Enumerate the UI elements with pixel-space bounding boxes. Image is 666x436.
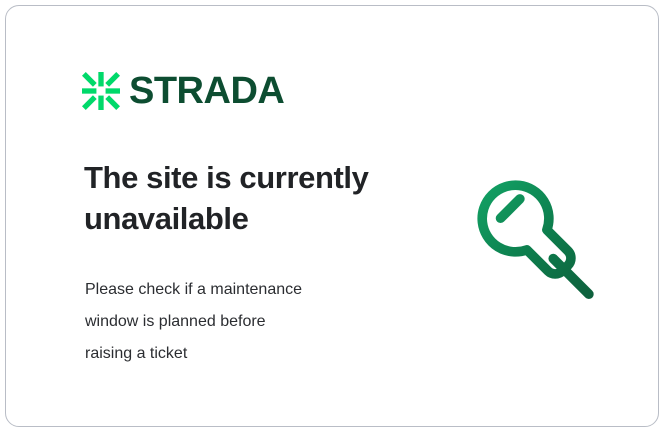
brand-lockup: STRADA (82, 72, 284, 110)
brand-wordmark: STRADA (129, 72, 284, 110)
error-page: STRADA The site is currently unavailable… (0, 0, 666, 436)
page-title: The site is currently unavailable (84, 158, 444, 240)
description-line-2: window is planned before (85, 306, 405, 338)
wrench-icon (461, 164, 616, 319)
message-card: STRADA The site is currently unavailable… (5, 5, 659, 427)
asterisk-star-icon (82, 72, 120, 110)
description-line-3: raising a ticket (85, 338, 405, 370)
page-description: Please check if a maintenance window is … (85, 274, 405, 370)
description-line-1: Please check if a maintenance (85, 274, 405, 306)
